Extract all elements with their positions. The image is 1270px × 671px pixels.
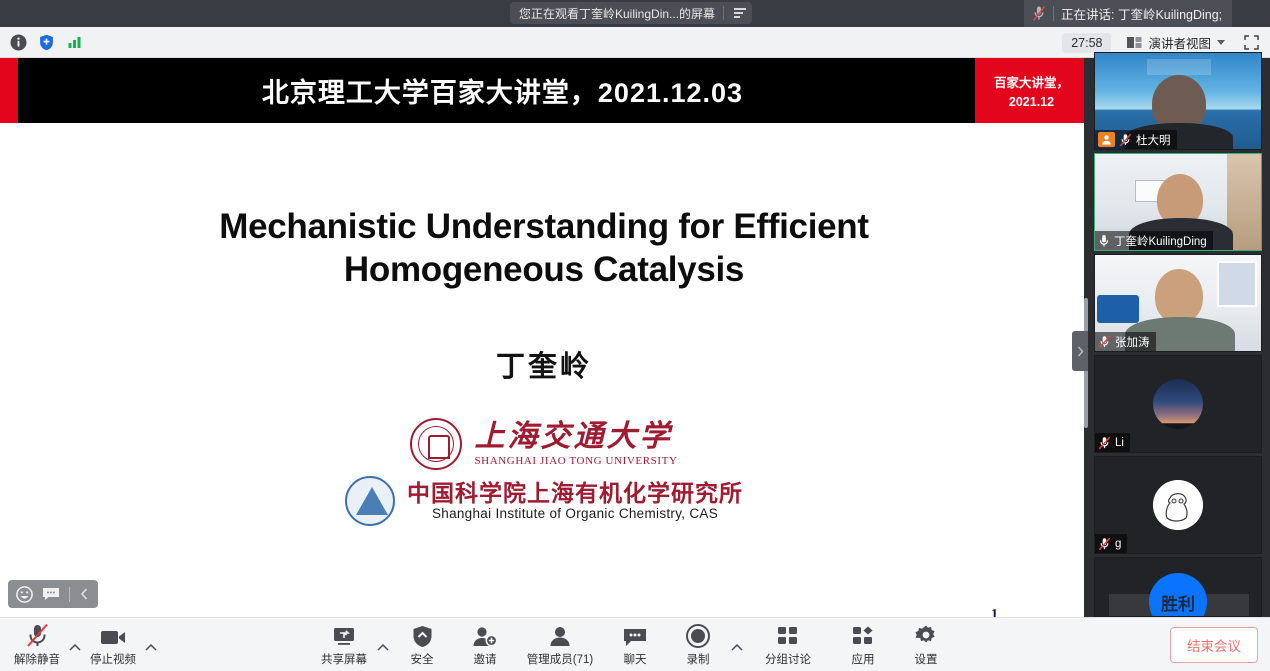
sjtu-seal-icon — [410, 418, 462, 470]
meeting-timer: 27:58 — [1062, 33, 1111, 53]
sioc-seal-icon — [345, 476, 395, 526]
slide-affiliations: 上海交通大学 SHANGHAI JIAO TONG UNIVERSITY 中国科… — [0, 418, 1088, 526]
breakout-rooms-icon — [776, 624, 800, 648]
video-background-detail — [1097, 295, 1139, 323]
apps-label: 应用 — [852, 651, 875, 667]
sjtu-text-block: 上海交通大学 SHANGHAI JIAO TONG UNIVERSITY — [474, 421, 677, 467]
participant-namebar: g — [1095, 534, 1127, 553]
mic-muted-icon — [1098, 537, 1111, 551]
mic-muted-icon — [1032, 5, 1046, 22]
shield-icon — [411, 624, 434, 648]
chevron-down-icon — [1217, 40, 1225, 45]
active-speaker-label: 正在讲话: 丁奎岭KuilingDing; — [1061, 4, 1222, 23]
gear-icon — [914, 624, 938, 648]
breakout-rooms-label: 分组讨论 — [765, 651, 811, 667]
participant-name: 张加涛 — [1115, 334, 1150, 350]
toolbar-right-group: 结束会议 — [1170, 618, 1258, 671]
participant-tile[interactable]: 丁奎岭KuilingDing — [1094, 153, 1262, 251]
affiliation-sioc: 中国科学院上海有机化学研究所 Shanghai Institute of Org… — [345, 476, 743, 526]
participant-tile[interactable]: 胜利 — [1094, 557, 1262, 617]
view-mode-label: 演讲者视图 — [1148, 33, 1211, 52]
hamburger-icon[interactable] — [732, 6, 748, 20]
person-icon — [548, 624, 573, 648]
share-screen-icon — [331, 624, 357, 648]
participant-filmstrip[interactable]: 杜大明 丁奎岭KuilingDing — [1094, 52, 1264, 617]
slide-title: Mechanistic Understanding for Efficient … — [0, 206, 1088, 291]
reactions-toolbar[interactable] — [8, 580, 98, 608]
security-button[interactable]: 安全 — [391, 620, 453, 670]
layout-icon — [1127, 36, 1142, 49]
sioc-text-block: 中国科学院上海有机化学研究所 Shanghai Institute of Org… — [407, 481, 743, 521]
chevron-right-icon — [1076, 345, 1085, 358]
participant-name: 杜大明 — [1136, 132, 1171, 148]
chat-bubble-icon — [622, 624, 648, 648]
invite-label: 邀请 — [474, 651, 497, 667]
fullscreen-icon[interactable] — [1241, 32, 1262, 53]
top-chrome-bar: 您正在观看丁奎岭KuilingDin...的屏幕 正在讲话: 丁奎岭Kuilin… — [0, 0, 1270, 27]
participant-tile[interactable]: g — [1094, 456, 1262, 554]
divider — [723, 6, 724, 20]
shield-check-icon[interactable] — [36, 32, 57, 53]
affiliation-sjtu: 上海交通大学 SHANGHAI JIAO TONG UNIVERSITY — [410, 418, 677, 470]
participant-tile[interactable]: 杜大明 — [1094, 52, 1262, 150]
sjtu-name-cn: 上海交通大学 — [474, 421, 677, 453]
settings-label: 设置 — [915, 651, 938, 667]
person-silhouette — [1155, 269, 1203, 323]
video-background-detail — [1217, 261, 1257, 307]
record-button[interactable]: 录制 — [667, 620, 729, 670]
security-label: 安全 — [411, 651, 434, 667]
participants-button[interactable]: 管理成员(71) — [517, 620, 603, 670]
smiley-icon[interactable] — [16, 586, 33, 603]
participant-namebar: Li — [1095, 433, 1130, 452]
record-options-chevron[interactable] — [730, 620, 744, 670]
end-meeting-button[interactable]: 结束会议 — [1170, 627, 1258, 663]
divider — [69, 587, 70, 602]
sjtu-name-en: SHANGHAI JIAO TONG UNIVERSITY — [474, 455, 677, 467]
participants-label: 管理成员(71) — [527, 651, 593, 667]
screen-share-notice-label: 您正在观看丁奎岭KuilingDin...的屏幕 — [519, 5, 715, 22]
avatar — [1153, 480, 1203, 530]
chevron-up-icon — [377, 643, 389, 652]
info-bar-left-group — [8, 27, 85, 58]
host-icon — [1098, 132, 1115, 147]
share-screen-label: 共享屏幕 — [321, 651, 367, 667]
person-add-icon — [472, 624, 498, 648]
sioc-name-en: Shanghai Institute of Organic Chemistry,… — [407, 506, 743, 521]
video-overlay-strip — [1147, 59, 1211, 75]
participant-tile[interactable]: 张加涛 — [1094, 254, 1262, 352]
participant-namebar: 杜大明 — [1095, 130, 1177, 149]
avatar — [1153, 379, 1203, 429]
info-icon[interactable] — [8, 32, 29, 53]
breakout-rooms-button[interactable]: 分组讨论 — [745, 620, 831, 670]
participant-namebar: 丁奎岭KuilingDing — [1095, 231, 1213, 250]
panel-collapse-handle[interactable] — [1072, 331, 1088, 371]
mic-on-icon — [1098, 234, 1110, 248]
settings-button[interactable]: 设置 — [895, 620, 957, 670]
slide-title-line2: Homogeneous Catalysis — [120, 249, 968, 292]
chat-bubble-icon[interactable] — [42, 586, 60, 602]
chat-button[interactable]: 聊天 — [604, 620, 666, 670]
apps-button[interactable]: 应用 — [832, 620, 894, 670]
share-options-chevron[interactable] — [376, 620, 390, 670]
toolbar-center-group: 共享屏幕 安全 — [0, 618, 1270, 671]
participant-name: Li — [1115, 437, 1124, 449]
mic-muted-icon — [1098, 436, 1111, 450]
slide-title-line1: Mechanistic Understanding for Efficient — [120, 206, 968, 249]
divider — [1053, 6, 1054, 21]
mic-muted-icon — [1119, 133, 1132, 147]
share-screen-button[interactable]: 共享屏幕 — [313, 620, 375, 670]
participant-name: g — [1115, 538, 1121, 550]
record-circle-icon — [686, 624, 710, 648]
chevron-up-icon — [731, 643, 743, 652]
banner-badge-line2: 2021.12 — [1009, 95, 1054, 109]
avatar-initials: 胜利 — [1161, 590, 1195, 615]
chevron-left-icon[interactable] — [79, 587, 90, 601]
zoom-meeting-window: 您正在观看丁奎岭KuilingDin...的屏幕 正在讲话: 丁奎岭Kuilin… — [0, 0, 1270, 671]
slide-author: 丁奎岭 — [0, 343, 1088, 385]
shared-screen-stage[interactable]: 北京理工大学百家大讲堂，2021.12.03 百家大讲堂， 2021.12 Me… — [0, 58, 1088, 617]
invite-button[interactable]: 邀请 — [454, 620, 516, 670]
screen-share-notice[interactable]: 您正在观看丁奎岭KuilingDin...的屏幕 — [510, 2, 752, 24]
banner-badge-line1: 百家大讲堂， — [994, 72, 1069, 91]
slide-page-number: 1 — [991, 607, 998, 617]
signal-bars-icon[interactable] — [64, 32, 85, 53]
meeting-toolbar: 解除静音 停止视频 — [0, 617, 1270, 671]
meeting-info-bar: 27:58 演讲者视图 — [0, 27, 1270, 58]
active-speaker-indicator[interactable]: 正在讲话: 丁奎岭KuilingDing; — [1024, 0, 1232, 27]
participant-namebar: 张加涛 — [1095, 332, 1156, 351]
mic-muted-icon — [1098, 335, 1111, 349]
chat-label: 聊天 — [624, 651, 647, 667]
participant-name: 丁奎岭KuilingDing — [1114, 233, 1207, 249]
banner-badge: 百家大讲堂， 2021.12 — [975, 58, 1088, 123]
slide-banner: 北京理工大学百家大讲堂，2021.12.03 百家大讲堂， 2021.12 — [0, 58, 1088, 123]
banner-title: 北京理工大学百家大讲堂，2021.12.03 — [0, 58, 975, 123]
sioc-name-cn: 中国科学院上海有机化学研究所 — [407, 481, 743, 506]
apps-grid-icon — [851, 624, 875, 648]
participant-tile[interactable]: Li — [1094, 355, 1262, 453]
record-label: 录制 — [687, 651, 710, 667]
